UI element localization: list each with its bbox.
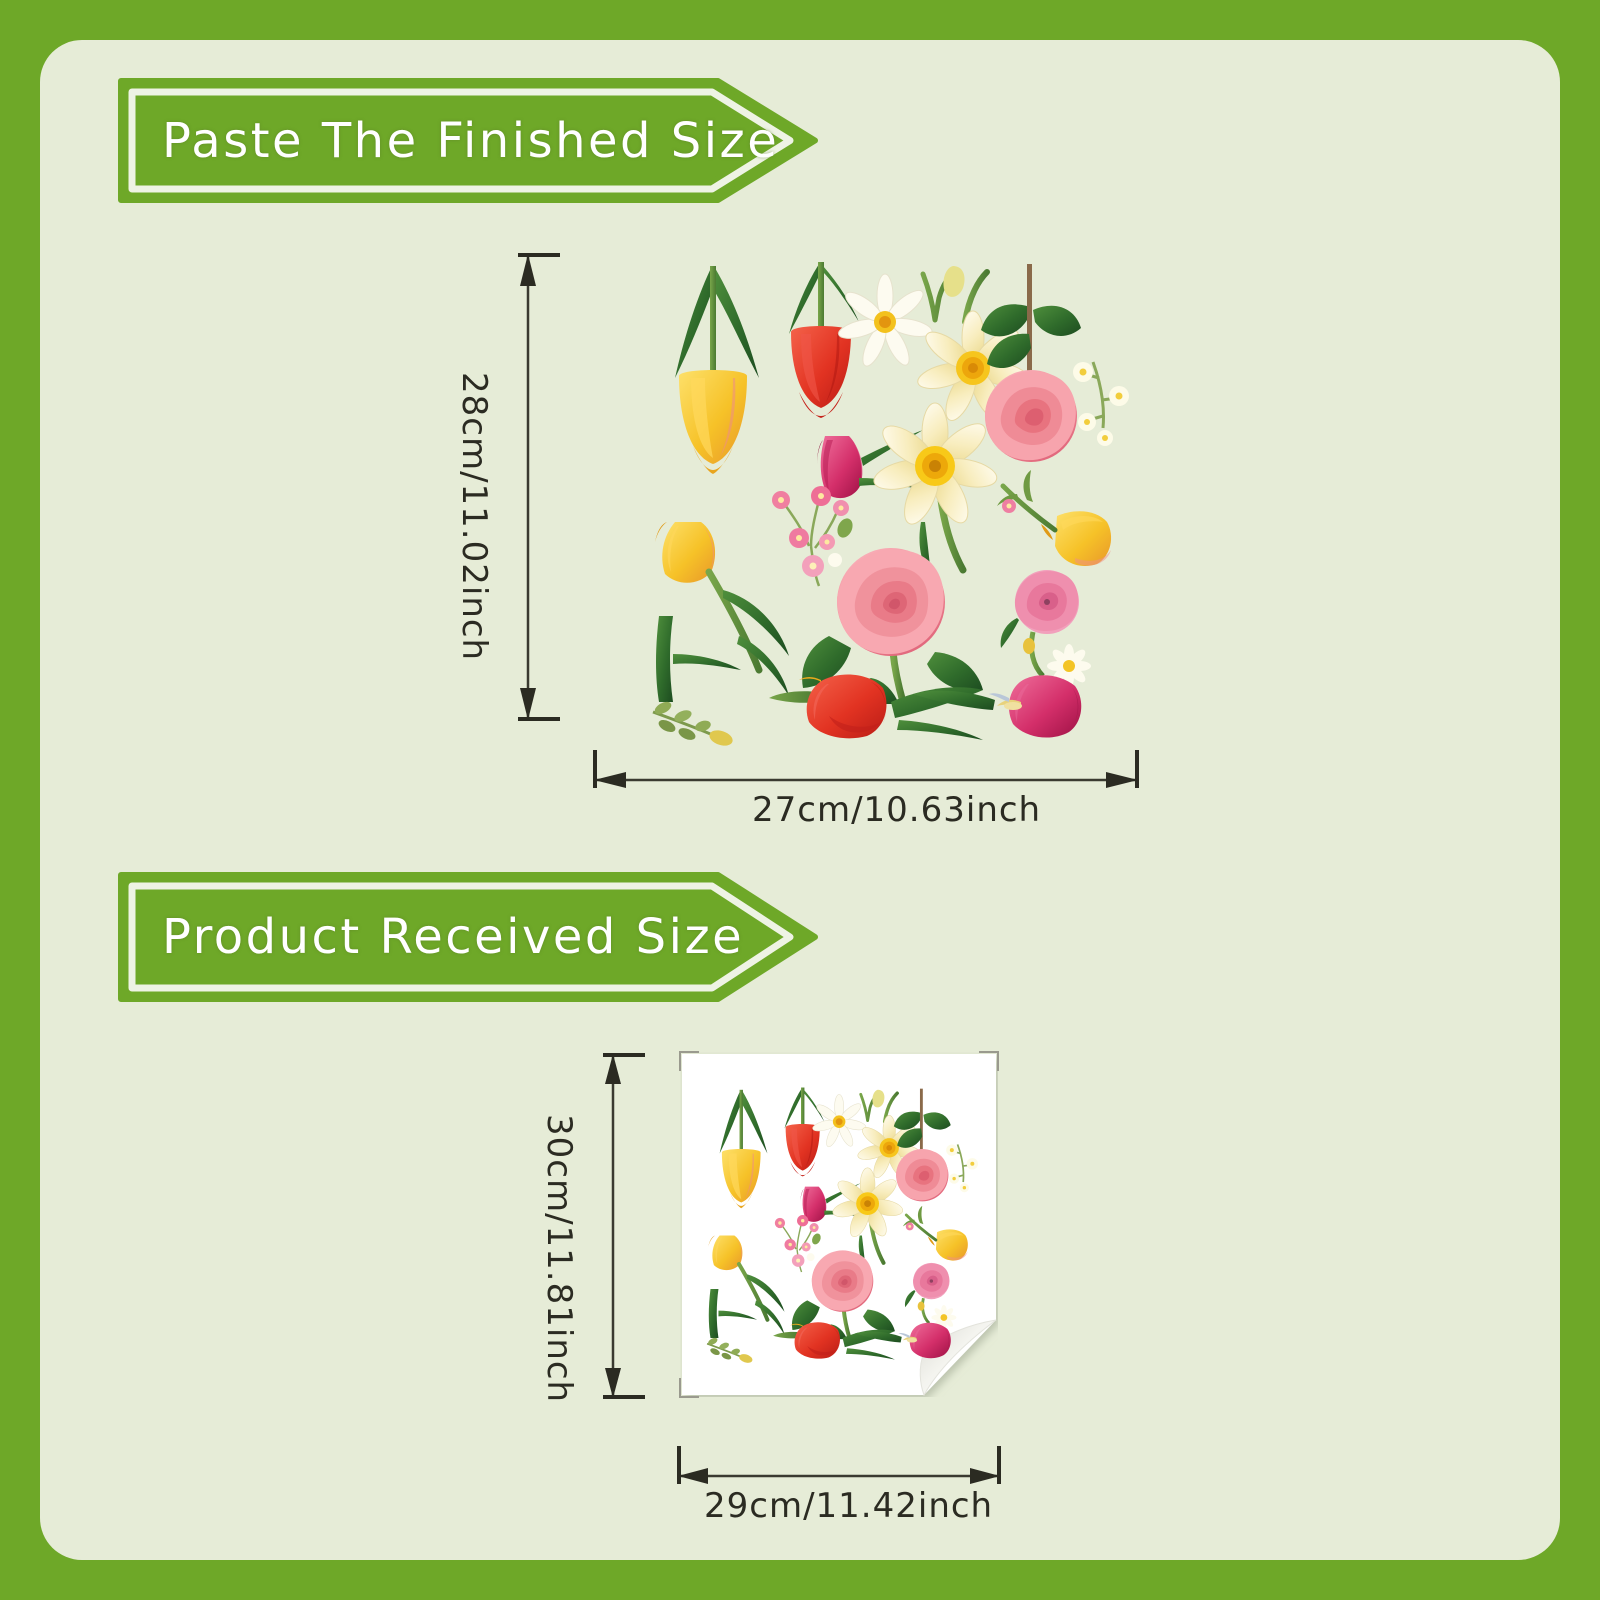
dimension-width-received: 29cm/11.42inch xyxy=(676,1438,1002,1484)
dimension-height-received-label: 30cm/11.81inch xyxy=(539,1114,579,1403)
product-sheet xyxy=(680,1052,998,1397)
banner-product-received-size: Product Received Size xyxy=(118,872,818,1002)
banner-paste-label: Paste The Finished Size xyxy=(162,78,779,203)
sheet-corner-mark-top-left xyxy=(679,1051,699,1071)
banner-paste-finished-size: Paste The Finished Size xyxy=(118,78,818,203)
dimension-height-finished-label: 28cm/11.02inch xyxy=(454,372,494,661)
sticker-artwork-received xyxy=(690,1064,986,1382)
dimension-height-finished: 28cm/11.02inch xyxy=(500,252,560,722)
banner-received-label: Product Received Size xyxy=(162,872,744,1002)
sheet-corner-mark-bottom-left xyxy=(679,1378,699,1398)
dimension-width-finished-label: 27cm/10.63inch xyxy=(752,790,1041,830)
sticker-artwork-finished xyxy=(618,250,1148,750)
infographic-root: Paste The Finished Size 28cm/11.02inch 2… xyxy=(0,0,1600,1600)
dimension-width-finished: 27cm/10.63inch xyxy=(592,742,1140,788)
dimension-width-received-label: 29cm/11.42inch xyxy=(704,1486,993,1526)
dimension-height-received: 30cm/11.81inch xyxy=(585,1052,645,1400)
sheet-corner-mark-top-right xyxy=(979,1051,999,1071)
